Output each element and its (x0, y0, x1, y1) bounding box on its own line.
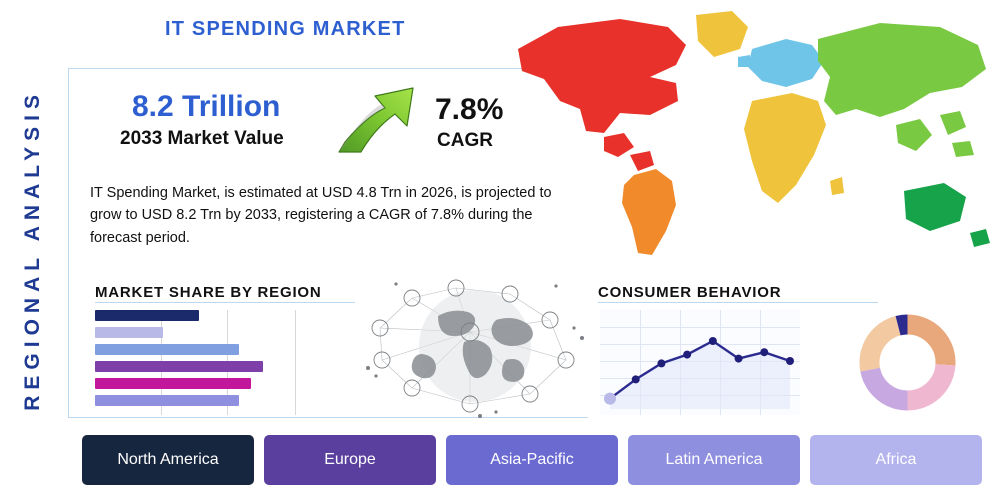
section-rule-market-share (95, 302, 355, 303)
bar-chart-bar (95, 327, 163, 338)
kpi-cagr-value: 7.8% (435, 93, 503, 127)
donut-segment (870, 370, 907, 401)
section-header-market-share: MARKET SHARE BY REGION (95, 284, 322, 301)
bar-chart-bar (95, 344, 239, 355)
donut-chart (855, 310, 960, 415)
line-chart-marker (657, 359, 665, 367)
region-button-label: Europe (324, 451, 376, 469)
kpi-cagr-caption: CAGR (437, 130, 493, 152)
line-chart-marker (632, 375, 640, 383)
side-vertical-label-text: REGIONAL ANALYSIS (21, 89, 45, 411)
line-chart-marker (683, 351, 691, 359)
region-button-label: North America (117, 451, 218, 469)
kpi-market-value: 8.2 Trillion (132, 90, 280, 124)
world-map-illustration (500, 5, 1000, 270)
section-rule-consumer-behavior (598, 302, 878, 303)
region-button-asia-pacific[interactable]: Asia-Pacific (446, 435, 618, 485)
donut-segment (908, 365, 946, 401)
region-button-label: Asia-Pacific (490, 451, 574, 469)
bar-chart-bar (95, 361, 263, 372)
region-button-label: Latin America (666, 451, 763, 469)
kpi-market-value-caption: 2033 Market Value (120, 128, 284, 150)
region-button-latin-america[interactable]: Latin America (628, 435, 800, 485)
line-chart-marker (760, 348, 768, 356)
market-share-bar-chart (95, 310, 315, 415)
map-region-europe (738, 39, 824, 87)
bar-chart-bar (95, 378, 251, 389)
global-network-illustration (360, 268, 590, 418)
bar-chart-bar (95, 395, 239, 406)
region-button-row: North AmericaEuropeAsia-PacificLatin Ame… (82, 435, 982, 485)
map-region-north-america (518, 19, 686, 171)
page-title: IT SPENDING MARKET (165, 18, 406, 41)
map-region-asia (818, 23, 986, 157)
line-chart-marker (735, 355, 743, 363)
consumer-behavior-line-chart (600, 310, 800, 415)
section-header-consumer-behavior: CONSUMER BEHAVIOR (598, 284, 781, 301)
donut-segment (898, 325, 907, 326)
donut-segment (870, 326, 899, 370)
line-chart-marker (709, 337, 717, 345)
map-region-greenland (696, 11, 748, 57)
kpi-row: 8.2 Trillion 2033 Market Value 7.8% CAGR (90, 90, 560, 170)
region-button-north-america[interactable]: North America (82, 435, 254, 485)
bar-chart-gridline (295, 310, 296, 415)
region-button-africa[interactable]: Africa (810, 435, 982, 485)
line-chart-marker (786, 357, 794, 365)
donut-segment (908, 325, 946, 365)
map-region-africa (744, 93, 844, 203)
map-region-oceania (904, 183, 990, 247)
region-button-europe[interactable]: Europe (264, 435, 436, 485)
region-button-label: Africa (876, 451, 917, 469)
line-chart-start-marker (604, 393, 616, 405)
side-vertical-label: REGIONAL ANALYSIS (10, 40, 56, 460)
bar-chart-bar (95, 310, 199, 321)
growth-arrow-icon (335, 82, 425, 157)
map-region-south-america (622, 169, 676, 255)
